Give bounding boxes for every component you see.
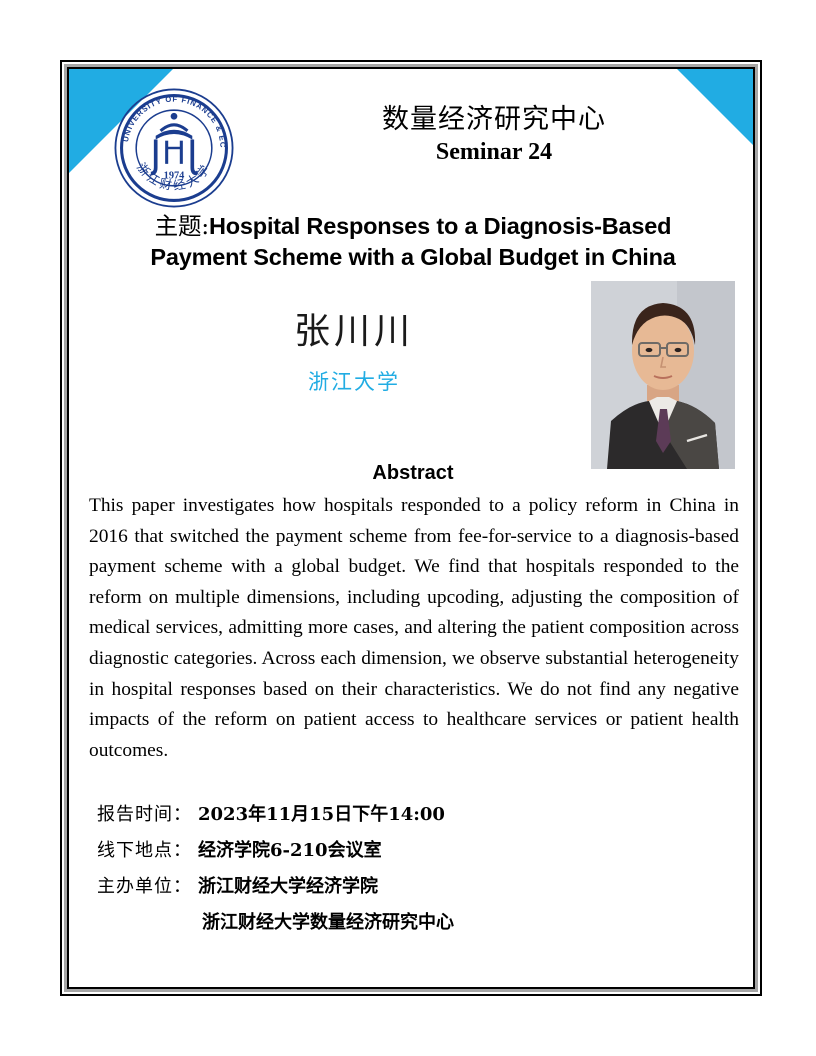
seminar-number: Seminar 24 bbox=[259, 137, 729, 167]
speaker-affiliation: 浙江大学 bbox=[129, 369, 579, 395]
title-prefix-label: 主题: bbox=[155, 212, 209, 240]
event-venue-value: 经济学院6-210会议室 bbox=[198, 833, 382, 869]
event-host-value-1: 浙江财经大学经济学院 bbox=[198, 869, 378, 905]
abstract-heading: Abstract bbox=[83, 461, 743, 485]
poster-frame: ZHEJIANG UNIVERSITY OF FINANCE & ECONOMI… bbox=[60, 60, 762, 996]
research-center-name: 数量经济研究中心 bbox=[259, 103, 729, 137]
event-time-row: 报告时间： 2023年11月15日下午14:00 bbox=[97, 797, 727, 833]
event-time-value: 2023年11月15日下午14:00 bbox=[198, 797, 445, 833]
title-line-2: Payment Scheme with a Global Budget in C… bbox=[150, 244, 675, 270]
event-details: 报告时间： 2023年11月15日下午14:00 线下地点： 经济学院6-210… bbox=[97, 797, 727, 941]
speaker-block: 张川川 浙江大学 bbox=[129, 309, 579, 395]
event-time-label: 报告时间： bbox=[97, 797, 192, 833]
seminar-title: 主题:Hospital Responses to a Diagnosis-Bas… bbox=[83, 211, 743, 273]
poster-header: 数量经济研究中心 Seminar 24 bbox=[259, 103, 729, 167]
event-host-row: 主办单位： 浙江财经大学经济学院 bbox=[97, 869, 727, 905]
event-host-label: 主办单位： bbox=[97, 869, 192, 905]
abstract-body: This paper investigates how hospitals re… bbox=[89, 491, 739, 766]
title-line-1: Hospital Responses to a Diagnosis-Based bbox=[209, 213, 671, 239]
speaker-name: 张川川 bbox=[129, 309, 579, 355]
poster-body: ZHEJIANG UNIVERSITY OF FINANCE & ECONOMI… bbox=[69, 69, 753, 987]
event-host-row-secondary: 浙江财经大学数量经济研究中心 bbox=[97, 905, 727, 941]
event-venue-row: 线下地点： 经济学院6-210会议室 bbox=[97, 833, 727, 869]
poster-frame-inner-rule: ZHEJIANG UNIVERSITY OF FINANCE & ECONOMI… bbox=[67, 67, 755, 989]
speaker-portrait-photo bbox=[591, 281, 735, 469]
university-seal-logo: ZHEJIANG UNIVERSITY OF FINANCE & ECONOMI… bbox=[113, 87, 235, 209]
event-host-value-2: 浙江财经大学数量经济研究中心 bbox=[202, 905, 454, 941]
event-venue-label: 线下地点： bbox=[97, 833, 192, 869]
